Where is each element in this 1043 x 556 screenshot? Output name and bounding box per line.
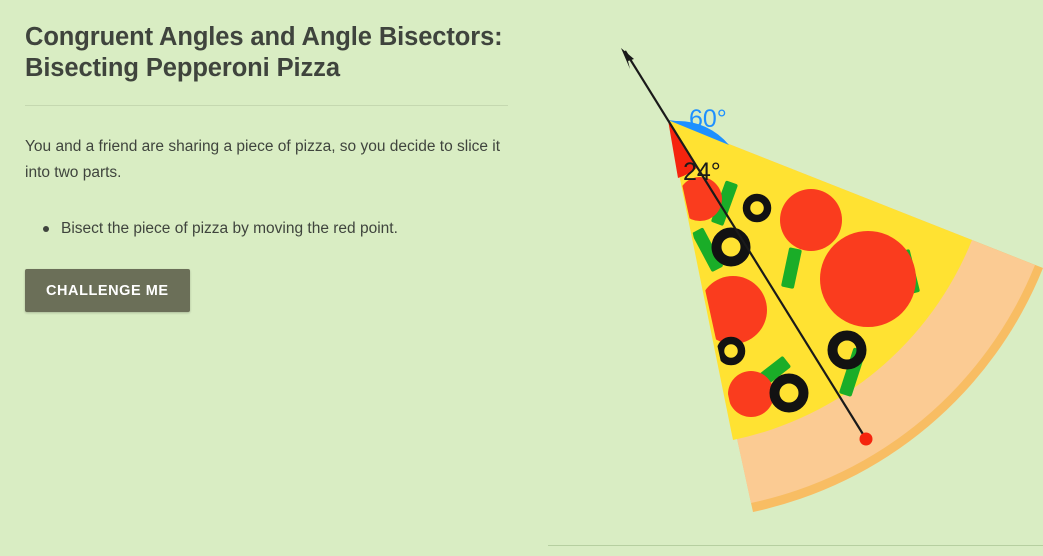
list-item: Bisect the piece of pizza by moving the … (43, 217, 506, 242)
red-draggable-point[interactable] (860, 433, 873, 446)
pepperoni-icon (780, 189, 842, 251)
title-divider (25, 105, 508, 106)
bullet-icon (43, 226, 49, 232)
pizza-bisector-applet[interactable]: 60° 24° (540, 0, 1043, 556)
bottom-divider (548, 545, 1043, 546)
task-label: Bisect the piece of pizza by moving the … (61, 220, 398, 237)
task-list: Bisect the piece of pizza by moving the … (25, 217, 506, 242)
ray-arrowhead-icon (621, 48, 634, 69)
prompt-text: You and a friend are sharing a piece of … (25, 134, 506, 186)
page-title: Congruent Angles and Angle Bisectors: Bi… (25, 22, 505, 84)
pepperoni-icon (820, 231, 916, 327)
pizza-graphics[interactable]: 60° 24° (540, 0, 1043, 556)
total-angle-label: 60° (689, 105, 727, 133)
applet-page: Congruent Angles and Angle Bisectors: Bi… (0, 0, 1043, 556)
instructions-panel: Congruent Angles and Angle Bisectors: Bi… (0, 0, 540, 556)
bisected-angle-label: 24° (683, 158, 721, 186)
pepperoni-icon (728, 371, 774, 417)
challenge-me-button[interactable]: CHALLENGE ME (25, 269, 190, 312)
